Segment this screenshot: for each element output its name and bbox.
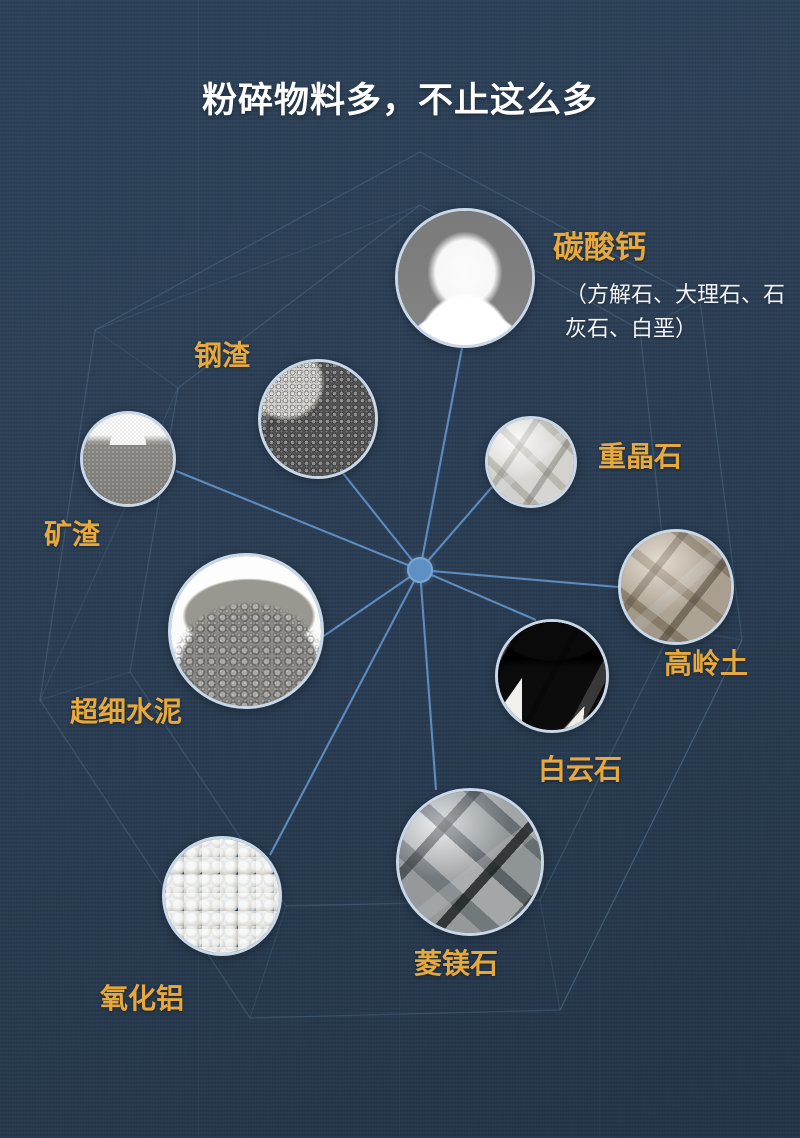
white-ceramic-balls-image (165, 839, 279, 953)
material-photo-barite[interactable] (485, 416, 577, 508)
white-crystals-image (498, 622, 606, 730)
label-calcium-carbonate: 碳酸钙 (553, 222, 646, 267)
material-photo-alumina[interactable] (162, 836, 282, 956)
material-photo-dolomite[interactable] (495, 619, 609, 733)
label-steel-slag: 钢渣 (194, 334, 250, 374)
material-photo-ultrafine-cement[interactable] (168, 553, 324, 709)
material-photo-steel-slag[interactable] (258, 359, 378, 479)
infographic-poster: 粉碎物料多，不止这么多 碳酸钙 （方解石、大理石、石灰石、白垩） 钢渣 矿渣 超… (0, 0, 800, 1138)
grey-rock-chunks-image (399, 791, 541, 933)
sublabel-calcium-carbonate: （方解石、大理石、石灰石、白垩） (565, 278, 800, 346)
grey-powder-heap-image (83, 414, 173, 504)
material-photo-slag[interactable] (80, 411, 176, 507)
label-alumina: 氧化铝 (100, 977, 184, 1017)
label-barite: 重晶石 (598, 435, 682, 475)
material-photo-kaolin[interactable] (618, 529, 734, 645)
beige-clay-chunks-image (621, 532, 731, 642)
white-rock-chunks-image (488, 419, 574, 505)
material-photo-calcium-carbonate[interactable] (395, 208, 535, 348)
label-magnesite: 菱镁石 (414, 942, 498, 982)
material-photo-magnesite[interactable] (396, 788, 544, 936)
center-node (407, 557, 433, 583)
grey-clumpy-powder-image (171, 556, 321, 706)
dark-grey-granules-image (261, 362, 375, 476)
label-slag: 矿渣 (44, 513, 100, 553)
white-powder-cone-image (398, 211, 532, 345)
label-kaolin: 高岭土 (664, 642, 748, 682)
label-ultrafine-cement: 超细水泥 (70, 690, 182, 730)
label-dolomite: 白云石 (538, 748, 622, 788)
